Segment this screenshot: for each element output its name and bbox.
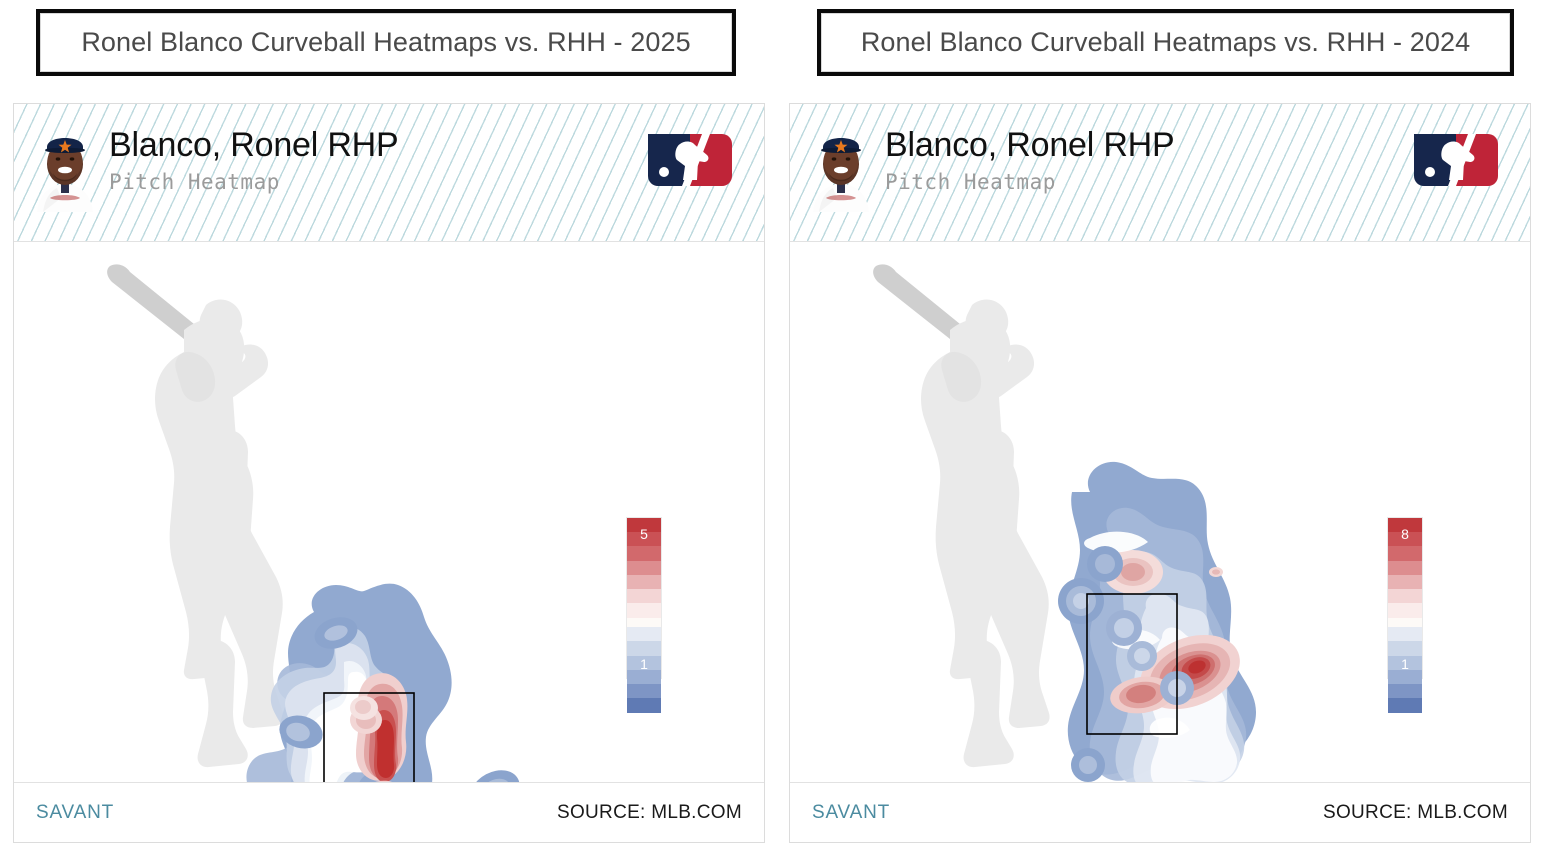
panel-footer: SAVANT SOURCE: MLB.COM <box>790 782 1530 842</box>
heatmap-plot-2024: 8 1 <box>790 242 1530 782</box>
source-label: SOURCE: MLB.COM <box>1323 802 1508 824</box>
batter-silhouette <box>873 264 1050 767</box>
color-legend-2025: 5 1 <box>626 517 662 679</box>
player-headshot <box>31 120 99 212</box>
batter-silhouette <box>107 264 284 767</box>
mlb-logo-icon <box>1408 128 1504 192</box>
heatmap-panel-2024: Blanco, Ronel RHP Pitch Heatmap <box>789 103 1531 843</box>
legend-min-label: 1 <box>1388 656 1422 672</box>
color-legend-bar: 5 1 <box>626 517 662 679</box>
panel-subtitle: Pitch Heatmap <box>885 170 1175 194</box>
player-name: Blanco, Ronel RHP <box>885 126 1175 164</box>
chart-title-inner: Ronel Blanco Curveball Heatmaps vs. RHH … <box>821 13 1510 72</box>
panel-header: Blanco, Ronel RHP Pitch Heatmap <box>790 104 1530 242</box>
player-header-text: Blanco, Ronel RHP Pitch Heatmap <box>885 126 1175 194</box>
legend-max-label: 5 <box>627 526 661 542</box>
legend-min-label: 1 <box>627 656 661 672</box>
screenshot-root: Ronel Blanco Curveball Heatmaps vs. RHH … <box>0 0 1544 854</box>
mlb-logo-icon <box>642 128 738 192</box>
panel-footer: SAVANT SOURCE: MLB.COM <box>14 782 764 842</box>
legend-max-label: 8 <box>1388 526 1422 542</box>
savant-label[interactable]: SAVANT <box>812 802 890 824</box>
chart-title-text: Ronel Blanco Curveball Heatmaps vs. RHH … <box>861 27 1470 58</box>
player-header-text: Blanco, Ronel RHP Pitch Heatmap <box>109 126 399 194</box>
panel-subtitle: Pitch Heatmap <box>109 170 399 194</box>
chart-title-inner: Ronel Blanco Curveball Heatmaps vs. RHH … <box>40 13 732 72</box>
panel-header: Blanco, Ronel RHP Pitch Heatmap <box>14 104 764 242</box>
chart-title-box-2025: Ronel Blanco Curveball Heatmaps vs. RHH … <box>36 9 736 76</box>
player-name: Blanco, Ronel RHP <box>109 126 399 164</box>
color-legend-2024: 8 1 <box>1387 517 1423 679</box>
savant-label[interactable]: SAVANT <box>36 802 114 824</box>
source-label: SOURCE: MLB.COM <box>557 802 742 824</box>
heatmap-panel-2025: Blanco, Ronel RHP Pitch Heatmap <box>13 103 765 843</box>
chart-title-text: Ronel Blanco Curveball Heatmaps vs. RHH … <box>81 27 690 58</box>
chart-title-box-2024: Ronel Blanco Curveball Heatmaps vs. RHH … <box>817 9 1514 76</box>
player-headshot <box>807 120 875 212</box>
color-legend-bar: 8 1 <box>1387 517 1423 679</box>
heatmap-plot-2025: 5 1 <box>14 242 764 782</box>
